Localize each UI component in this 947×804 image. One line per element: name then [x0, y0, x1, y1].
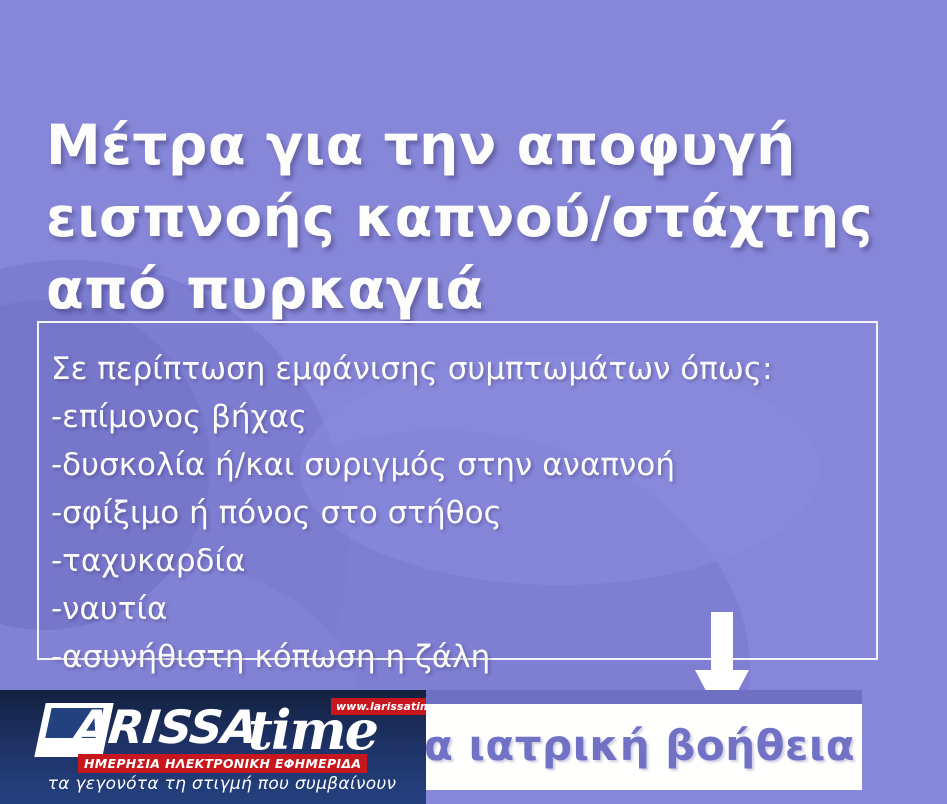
medical-help-banner: α ιατρική βοήθεια [426, 704, 862, 790]
logo-wordmark-row: ARISSA time www.larissatime.gr [16, 698, 416, 760]
banner-bottom-fill [426, 790, 862, 804]
banner-top-strip [426, 690, 862, 704]
logo-word-main: ARISSA [71, 700, 259, 754]
page-title: Μέτρα για την αποφυγή εισπνοής καπνού/στ… [46, 109, 906, 325]
larissatime-logo: ARISSA time www.larissatime.gr ΗΜΕΡΗΣΙΑ … [16, 698, 416, 798]
medical-help-banner-text: α ιατρική βοήθεια [426, 720, 862, 772]
logo-url-badge[interactable]: www.larissatime.gr [331, 698, 426, 715]
logo-subtitle-badge: ΗΜΕΡΗΣΙΑ ΗΛΕΚΤΡΟΝΙΚΗ ΕΦΗΜΕΡΙΔΑ [78, 754, 367, 773]
logo-panel: ARISSA time www.larissatime.gr ΗΜΕΡΗΣΙΑ … [0, 690, 426, 804]
poster-root: Μέτρα για την αποφυγή εισπνοής καπνού/στ… [0, 0, 947, 804]
logo-tagline: τα γεγονότα τη στιγμή που συμβαίνουν [42, 774, 402, 794]
